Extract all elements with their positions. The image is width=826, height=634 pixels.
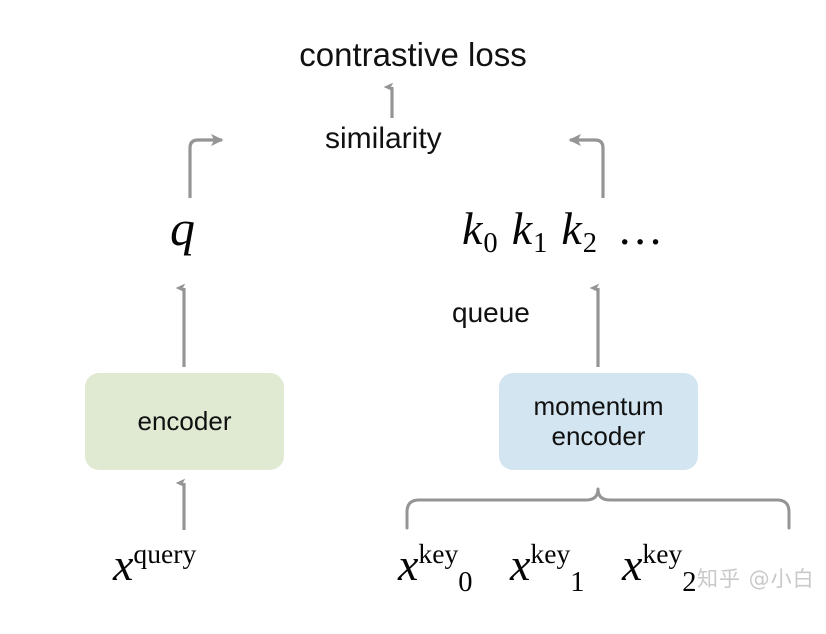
input-x-key-1-sub: 1	[570, 567, 584, 598]
key-symbol-1: k1	[512, 203, 548, 254]
momentum-encoder-box[interactable]: momentum encoder	[499, 373, 698, 470]
input-x-key-2-base: x	[622, 539, 642, 590]
input-x-query-base: x	[113, 539, 133, 590]
input-x-key-2-sub: 2	[682, 567, 696, 598]
key-ellipsis: …	[617, 203, 666, 254]
momentum-encoder-line-2: encoder	[552, 421, 646, 451]
brace-key-inputs	[407, 489, 789, 528]
input-x-key-0-sup: key	[418, 538, 458, 569]
key-representations-row: k0k1k2…	[462, 206, 666, 259]
momentum-encoder-box-label: momentum encoder	[533, 392, 663, 452]
input-x-key-2-sup: key	[642, 538, 682, 569]
similarity-label: similarity	[325, 124, 442, 154]
input-x-query-sup: query	[133, 538, 196, 569]
encoder-box-label: encoder	[138, 407, 232, 437]
input-x-key-1: xkey1	[510, 540, 571, 597]
contrastive-loss-label: contrastive loss	[0, 38, 826, 71]
arrow-q-to-similarity	[190, 140, 222, 198]
encoder-box[interactable]: encoder	[85, 373, 284, 470]
input-x-key-0-sub: 0	[458, 567, 472, 598]
moco-architecture-diagram: contrastive loss similarity q k0k1k2… qu…	[0, 0, 826, 634]
momentum-encoder-line-1: momentum	[533, 391, 663, 421]
input-x-key-0-base: x	[398, 539, 418, 590]
input-x-key-1-sup: key	[530, 538, 570, 569]
key-symbol-2: k2	[561, 203, 597, 254]
arrow-keys-to-similarity	[570, 140, 603, 198]
input-x-query: xquery	[113, 540, 196, 588]
input-x-key-2: xkey2	[622, 540, 683, 597]
query-representation-symbol: q	[170, 203, 195, 253]
watermark: 知乎 @小白	[697, 563, 815, 593]
key-symbol-0: k0	[462, 203, 498, 254]
queue-label: queue	[452, 299, 530, 327]
input-x-key-1-base: x	[510, 539, 530, 590]
input-x-key-0: xkey0	[398, 540, 459, 597]
